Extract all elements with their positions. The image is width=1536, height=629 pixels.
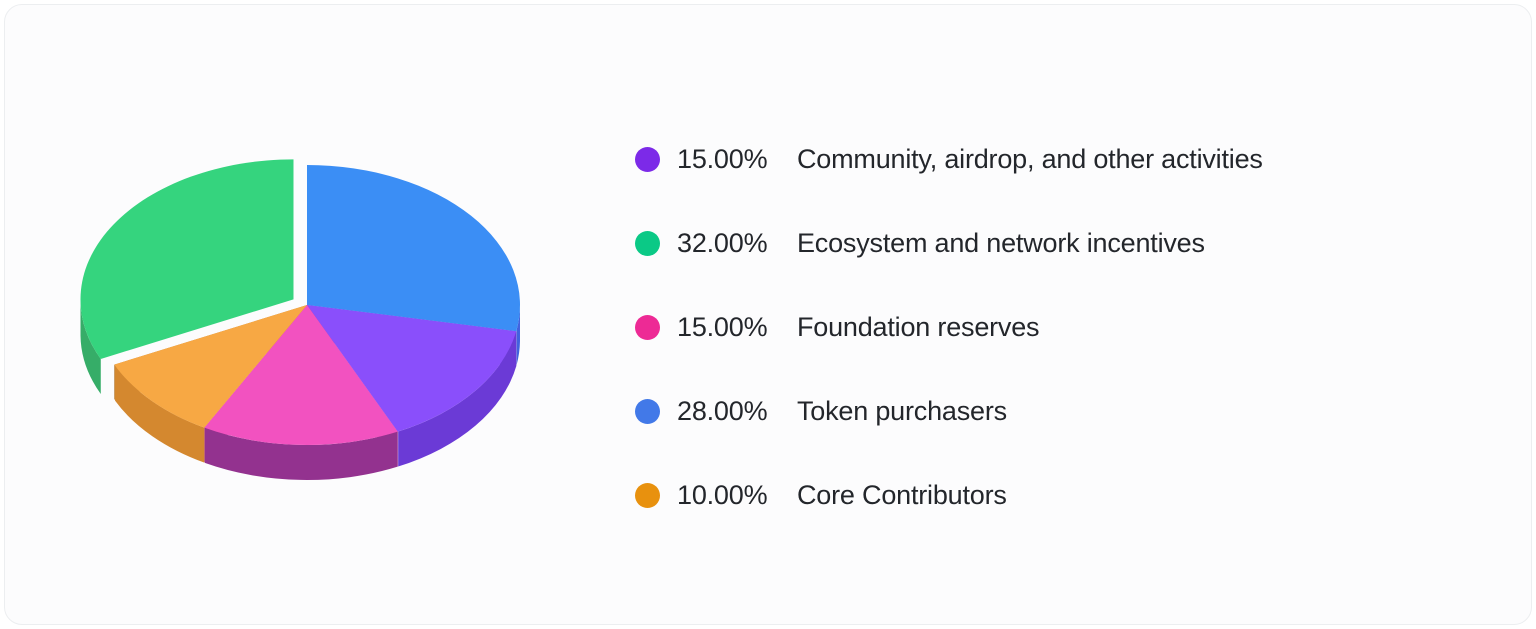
legend-dot-icon [635, 231, 660, 256]
legend-dot-icon [635, 483, 660, 508]
legend-dot-icon [635, 147, 660, 172]
legend-dot-icon [635, 399, 660, 424]
legend-percent: 15.00% [677, 312, 785, 343]
legend-item[interactable]: 28.00%Token purchasers [635, 369, 1495, 453]
legend-percent: 32.00% [677, 228, 785, 259]
legend-item[interactable]: 15.00%Community, airdrop, and other acti… [635, 117, 1495, 201]
pie-chart-3d [5, 5, 625, 626]
chart-card: 15.00%Community, airdrop, and other acti… [4, 4, 1532, 625]
chart-legend: 15.00%Community, airdrop, and other acti… [635, 117, 1495, 537]
legend-item[interactable]: 15.00%Foundation reserves [635, 285, 1495, 369]
legend-percent: 10.00% [677, 480, 785, 511]
legend-label: Token purchasers [797, 396, 1007, 427]
legend-item[interactable]: 10.00%Core Contributors [635, 453, 1495, 537]
legend-item[interactable]: 32.00%Ecosystem and network incentives [635, 201, 1495, 285]
legend-label: Core Contributors [797, 480, 1007, 511]
screenshot-root: 15.00%Community, airdrop, and other acti… [0, 0, 1536, 629]
legend-label: Foundation reserves [797, 312, 1039, 343]
legend-dot-icon [635, 315, 660, 340]
legend-label: Community, airdrop, and other activities [797, 144, 1263, 175]
legend-percent: 28.00% [677, 396, 785, 427]
pie-chart-area [5, 5, 625, 626]
legend-percent: 15.00% [677, 144, 785, 175]
pie-slice-token-purchasers[interactable] [307, 165, 520, 331]
legend-label: Ecosystem and network incentives [797, 228, 1205, 259]
